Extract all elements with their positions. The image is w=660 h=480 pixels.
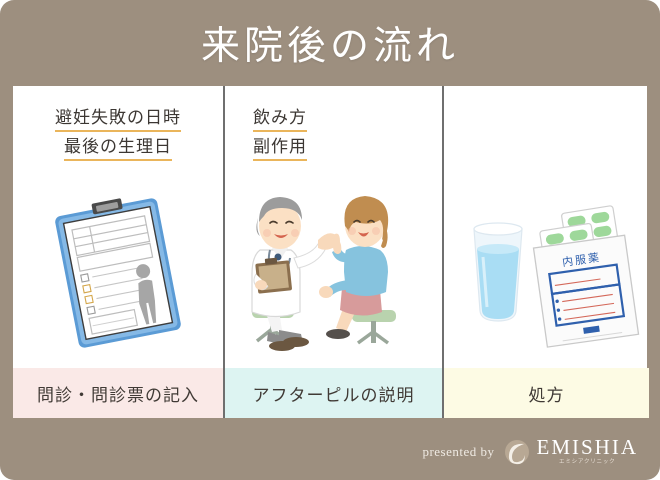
title-bar: 来院後の流れ [0,0,660,86]
page-title: 来院後の流れ [201,15,459,71]
step-1-illustration-area [13,178,223,368]
steps-panel: 避妊失敗の日時 最後の生理日 [13,86,647,418]
step-column-questionnaire: 避妊失敗の日時 最後の生理日 [13,86,223,418]
doctor-figure [252,197,338,351]
water-glass-icon [474,223,522,321]
step-1-heading-2: 最後の生理日 [64,137,172,161]
step-1-headings: 避妊失敗の日時 最後の生理日 [13,86,223,178]
step-2-headings: 飲み方 副作用 [225,86,442,178]
step-3-headings [444,86,649,178]
brand-text-block: EMISHIA エミシアクリニック [537,437,639,466]
water-glass-and-medicine-icon: 内服薬 [452,193,642,353]
brand-name: EMISHIA [537,437,639,458]
step-2-caption: アフターピルの説明 [225,368,442,418]
clipboard-questionnaire-icon [33,188,203,358]
brand-lockup: EMISHIA エミシアクリニック [504,437,639,466]
step-2-heading-2: 副作用 [253,137,307,161]
infographic-card: 来院後の流れ 避妊失敗の日時 最後の生理日 [0,0,660,480]
footer-branding: presented by EMISHIA エミシアクリニック [422,437,638,466]
step-column-prescription: 内服薬 [444,86,649,418]
step-1-caption: 問診・問診票の記入 [13,368,223,418]
step-3-caption: 処方 [444,368,649,418]
step-column-explanation: 飲み方 副作用 [225,86,442,418]
step-2-heading-1: 飲み方 [253,108,307,132]
patient-figure [319,196,396,343]
brand-subtitle: エミシアクリニック [559,459,615,466]
step-3-illustration-area: 内服薬 [444,178,649,368]
presented-by-label: presented by [422,444,494,460]
step-1-heading-1: 避妊失敗の日時 [55,108,181,132]
emishia-leaf-logo [504,439,530,465]
step-2-illustration-area [225,178,442,368]
doctor-patient-consultation-icon [234,188,434,358]
medicine-bag-icon: 内服薬 [533,235,638,347]
